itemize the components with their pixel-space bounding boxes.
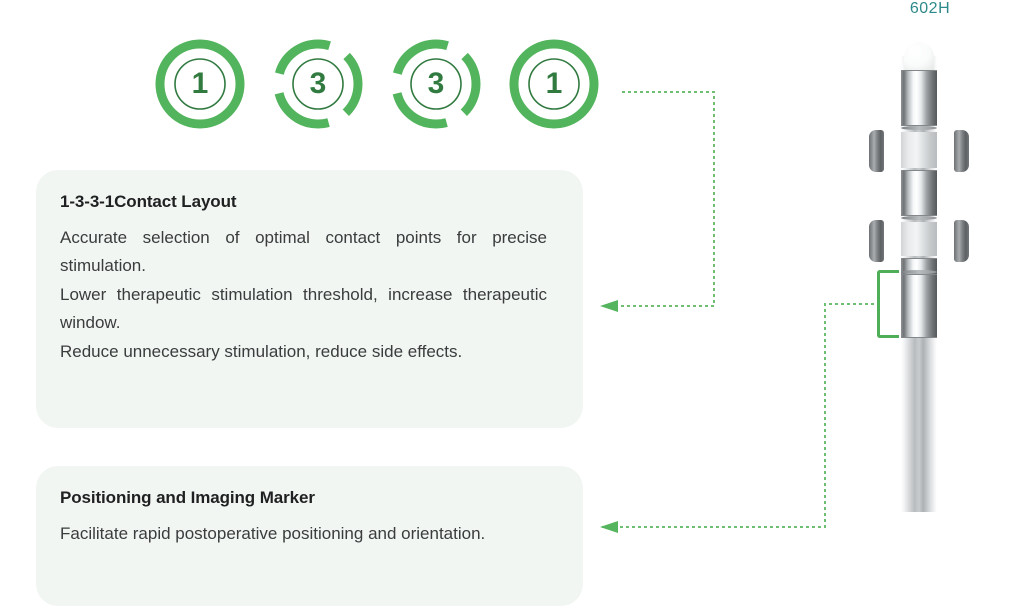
ring-divider — [901, 126, 937, 130]
segmented-contact-2-piece-left — [869, 130, 884, 172]
segmented-contact-3-core — [901, 222, 937, 256]
contact-circle-1-fourth: 1 — [506, 36, 602, 132]
card-title: Positioning and Imaging Marker — [60, 488, 547, 508]
contact-ring-4-marker — [901, 274, 937, 338]
contact-circle-1-first: 1 — [152, 36, 248, 132]
device-model-label: 602H — [860, 0, 1000, 18]
contact-circle-3-second: 3 — [270, 36, 366, 132]
contact-ring-mid-upper — [901, 170, 937, 216]
ring-divider — [901, 216, 937, 220]
segmented-contact-3-piece-right — [954, 220, 969, 262]
segmented-contact-2-core — [901, 132, 937, 168]
contact-circle-number: 1 — [192, 69, 209, 99]
card-paragraph: Reduce unnecessary stimulation, reduce s… — [60, 338, 547, 366]
contact-circle-number: 3 — [310, 69, 327, 99]
connector-arrowhead — [600, 521, 618, 533]
infographic-canvas: 602H 1 3 3 — [0, 0, 1015, 606]
contact-circle-number: 3 — [428, 69, 445, 99]
contact-ring-1 — [901, 70, 937, 126]
contact-circle-row: 1 3 3 1 — [152, 36, 602, 132]
segmented-contact-3-piece-left — [869, 220, 884, 262]
card-title: 1-3-3-1Contact Layout — [60, 192, 547, 212]
connector-contact-layout — [600, 92, 714, 306]
card-paragraph: Facilitate rapid postoperative positioni… — [60, 520, 547, 548]
connector-marker — [600, 304, 880, 527]
card-paragraph: Lower therapeutic stimulation threshold,… — [60, 281, 547, 336]
card-paragraph: Accurate selection of optimal contact po… — [60, 224, 547, 279]
dbs-electrode-lead — [893, 42, 945, 512]
contact-circle-number: 1 — [546, 69, 563, 99]
connector-arrowhead — [600, 300, 618, 312]
card-positioning-marker: Positioning and Imaging Marker Facilitat… — [36, 466, 583, 606]
segmented-contact-2-piece-right — [954, 130, 969, 172]
contact-circle-3-third: 3 — [388, 36, 484, 132]
imaging-marker-bracket — [877, 270, 899, 338]
card-contact-layout: 1-3-3-1Contact Layout Accurate selection… — [36, 170, 583, 428]
